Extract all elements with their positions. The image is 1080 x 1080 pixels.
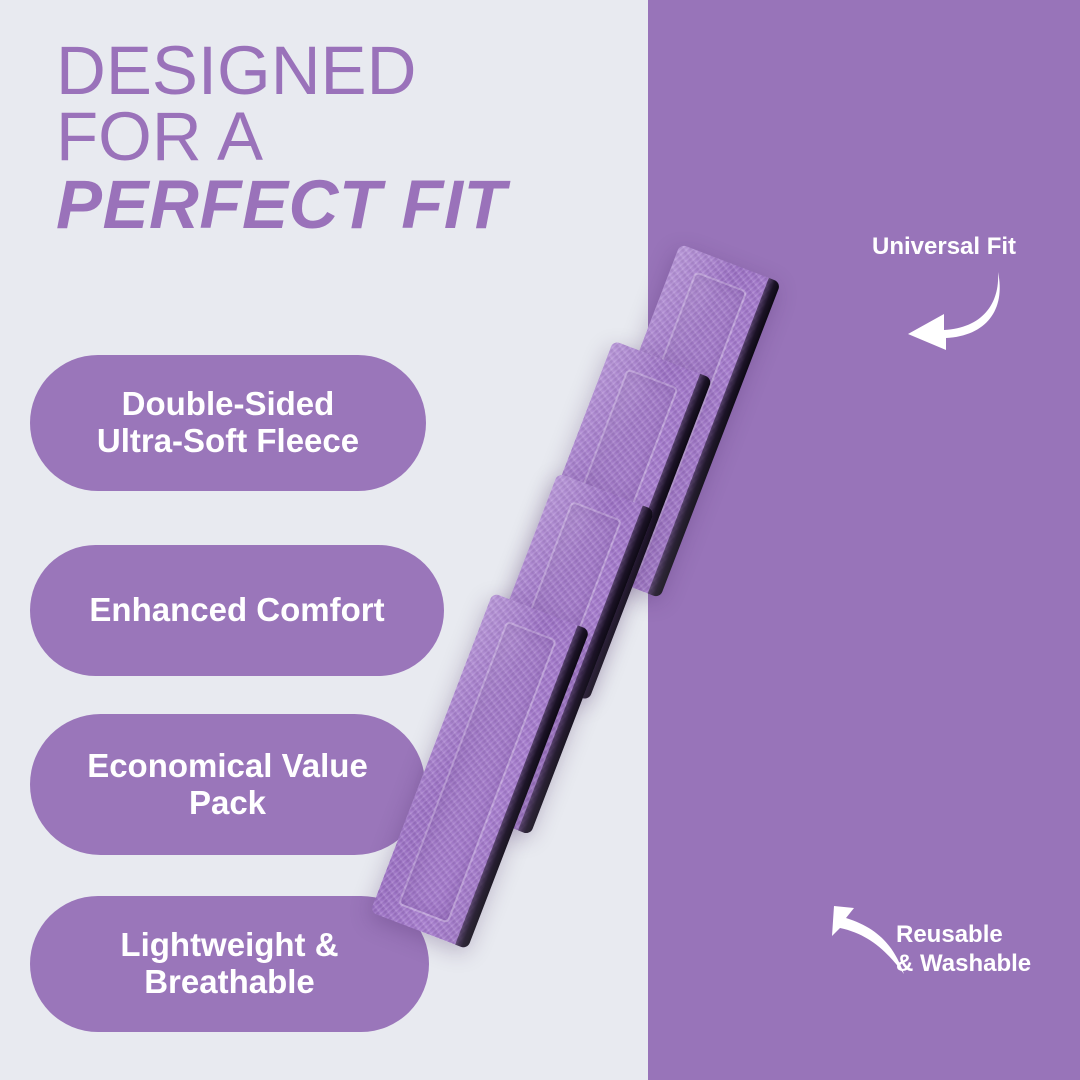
feature-pill-label: Enhanced Comfort	[89, 592, 384, 629]
headline-block: DESIGNED FOR A PERFECT FIT	[56, 38, 616, 239]
curved-arrow-down-left-icon	[886, 268, 1006, 350]
feature-pill-label: Double-Sided Ultra-Soft Fleece	[97, 386, 359, 460]
callout-reusable-washable-label: Reusable & Washable	[896, 920, 1031, 979]
feature-pill-double-sided-ultra-soft-fleece[interactable]: Double-Sided Ultra-Soft Fleece	[30, 355, 426, 491]
callout-universal-fit-label: Universal Fit	[872, 232, 1016, 261]
feature-pill-label: Economical Value Pack	[87, 748, 368, 822]
feature-pill-enhanced-comfort[interactable]: Enhanced Comfort	[30, 545, 444, 676]
infographic-canvas: DESIGNED FOR A PERFECT FIT Double-Sided …	[0, 0, 1080, 1080]
headline-line-3: PERFECT FIT	[56, 172, 616, 238]
headline-line-2: FOR A	[56, 104, 616, 170]
feature-pill-label: Lightweight & Breathable	[120, 927, 338, 1001]
headline-line-1: DESIGNED	[56, 38, 616, 104]
feature-pill-lightweight-breathable[interactable]: Lightweight & Breathable	[30, 896, 429, 1032]
feature-pill-economical-value-pack[interactable]: Economical Value Pack	[30, 714, 425, 855]
